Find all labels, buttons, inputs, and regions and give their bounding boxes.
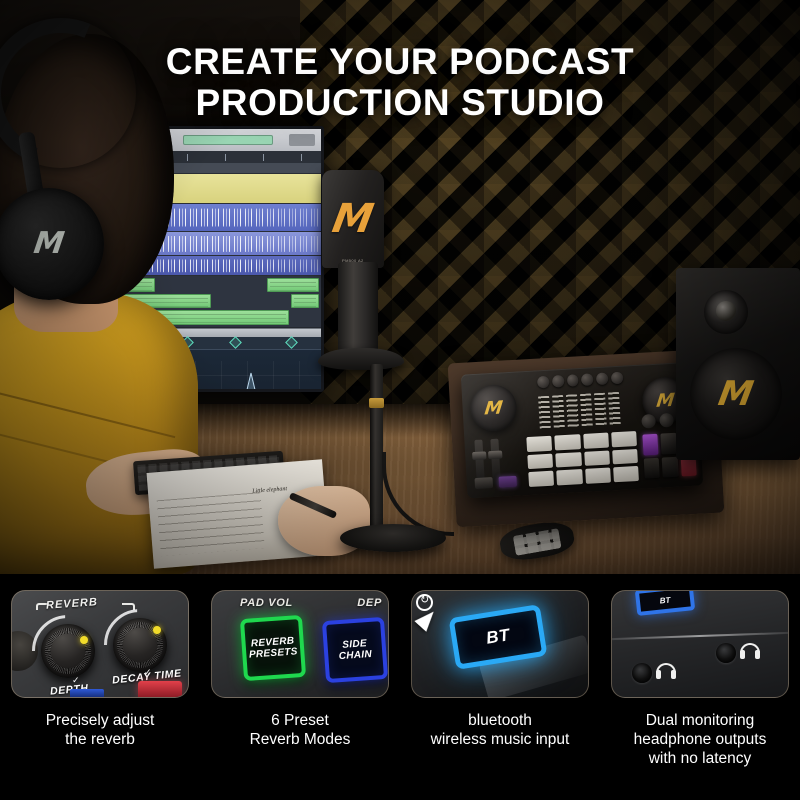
feature-reverb-knobs: REVERB ✓ ✓ DEPTH DECAY TIME Precisely ad… (0, 574, 200, 800)
paper-title: Little elephant (252, 486, 287, 495)
bracket-right (122, 603, 135, 610)
reverb-group-label: REVERB (46, 596, 99, 612)
handwritten-lines (157, 492, 265, 556)
headphone-jack-port-2 (716, 643, 736, 663)
caption-line-2: headphone outputs (634, 731, 767, 750)
mixer-knob (537, 376, 549, 389)
pad (583, 433, 609, 449)
microphone-stand-base (340, 524, 446, 552)
feature-reverb-presets: PAD VOL DEP REVERB PRESETS SIDE CHAIN 6 … (200, 574, 400, 800)
maono-logo-icon: M (655, 389, 675, 411)
caption-line-2: wireless music input (431, 731, 570, 750)
pad (526, 436, 552, 452)
mixer-knob-left: M (469, 384, 517, 432)
feature-caption-reverb-presets: 6 Preset Reverb Modes (246, 712, 355, 750)
mixer-button-dark (662, 456, 678, 477)
mixer-button-dark (644, 457, 660, 478)
caption-line-1: Dual monitoring (634, 712, 767, 731)
maono-logo-icon: M (32, 229, 66, 259)
feature-caption-bluetooth: bluetooth wireless music input (427, 712, 574, 750)
headphone-icon (656, 663, 676, 679)
cursor-arrow-icon (414, 606, 439, 632)
feature-caption-headphone-outputs: Dual monitoring headphone outputs with n… (630, 712, 771, 769)
pad (527, 453, 553, 469)
mixer-button-dark (661, 433, 677, 454)
mixer-knob (567, 374, 579, 387)
microphone-shield: M (322, 170, 384, 268)
caption-line-2: Reverb Modes (250, 731, 351, 750)
knob-indicator-dot (80, 636, 88, 644)
mixer-led-meters (538, 392, 626, 431)
bt-button-small-label: BT (659, 595, 671, 605)
mixer-knob (552, 375, 564, 388)
eq-node (285, 336, 298, 349)
mixer-bluetooth-button (498, 476, 517, 488)
side-chain-button[interactable]: SIDE CHAIN (322, 617, 388, 683)
pad (555, 434, 581, 450)
daw-toolbar-button-right (289, 134, 315, 146)
microphone-model-text: PM500 A2 (342, 258, 364, 263)
mixer-pad-grid (526, 431, 639, 487)
blue-button-edge (70, 689, 104, 697)
feature-thumbnail-reverb-presets: PAD VOL DEP REVERB PRESETS SIDE CHAIN (211, 590, 389, 698)
microphone-body (338, 262, 378, 354)
pad (556, 452, 582, 468)
feature-headphone-outputs: BT Dual monitoring headphone out (600, 574, 800, 800)
bt-button-label: BT (485, 625, 512, 648)
product-banner: M Little elephant M PM500 A2 M M (0, 0, 800, 800)
pad-vol-label: PAD VOL (240, 597, 293, 609)
headphone-jack-port-1 (632, 663, 652, 683)
led-meter (580, 393, 593, 428)
reverb-presets-label-2: PRESETS (249, 646, 298, 661)
led-meter (566, 394, 579, 429)
knob-indicator-dot (153, 626, 161, 634)
dep-label: DEP (357, 597, 382, 609)
audio-mixer-interface: M M (461, 362, 704, 499)
feature-thumbnail-reverb-knobs: REVERB ✓ ✓ DEPTH DECAY TIME (11, 590, 189, 698)
feature-bluetooth-input: BT bluetooth wireless music input (400, 574, 600, 800)
daw-transport-pill (183, 135, 273, 145)
depth-knob (41, 624, 95, 678)
speaker-woofer: M (690, 348, 782, 440)
mixer-monitor-button (475, 477, 494, 489)
led-meter (538, 396, 551, 431)
led-meter (552, 395, 565, 430)
daw-clip (291, 294, 319, 308)
pad (613, 466, 639, 482)
maono-logo-icon: M (716, 374, 757, 414)
eq-node (229, 336, 242, 349)
caption-line-1: 6 Preset (250, 712, 351, 731)
feature-caption-reverb-knobs: Precisely adjust the reverb (42, 712, 159, 750)
daw-clip (267, 278, 319, 292)
pad (584, 450, 610, 466)
headphone-earpiece (740, 650, 745, 659)
feature-thumbnail-bluetooth: BT (411, 590, 589, 698)
caption-line-3: with no latency (634, 750, 767, 769)
side-chain-label-2: CHAIN (338, 649, 372, 663)
mixer-knob (641, 414, 656, 429)
microphone-stand-stem (370, 364, 383, 532)
pad (611, 431, 637, 447)
caption-line-1: bluetooth (431, 712, 570, 731)
feature-thumbnail-headphone-jacks: BT (611, 590, 789, 698)
mixer-knob (611, 372, 623, 385)
red-button-edge (138, 681, 182, 697)
chassis-edge-line (612, 632, 788, 640)
pad (612, 449, 638, 465)
studio-monitor-speaker: M (676, 268, 800, 460)
bt-button-small: BT (635, 590, 695, 616)
caption-line-2: the reverb (46, 731, 155, 750)
headphone-earpiece (671, 670, 676, 679)
headphone-icon (740, 643, 760, 659)
mixer-knob (596, 372, 608, 385)
mixer-knob (581, 373, 593, 386)
pad (528, 471, 554, 487)
led-meter (594, 393, 607, 428)
speaker-tweeter (704, 290, 748, 334)
maono-logo-icon: M (483, 397, 503, 419)
headphone-earpiece (656, 670, 661, 679)
hero-photo: M Little elephant M PM500 A2 M M (0, 0, 800, 574)
maono-logo-icon: M (329, 196, 377, 242)
mixer-knob (659, 413, 674, 428)
mixer-button-purple (642, 434, 658, 455)
decay-time-knob (113, 618, 167, 672)
microphone-shock-mount (318, 348, 404, 370)
feature-strip: REVERB ✓ ✓ DEPTH DECAY TIME Precisely ad… (0, 574, 800, 800)
caption-line-1: Precisely adjust (46, 712, 155, 731)
pad (585, 468, 611, 484)
reverb-presets-button[interactable]: REVERB PRESETS (240, 615, 306, 681)
pad (556, 469, 582, 485)
headphone-earpiece (755, 650, 760, 659)
microphone-stand-collar (369, 398, 384, 408)
led-meter (608, 392, 621, 427)
